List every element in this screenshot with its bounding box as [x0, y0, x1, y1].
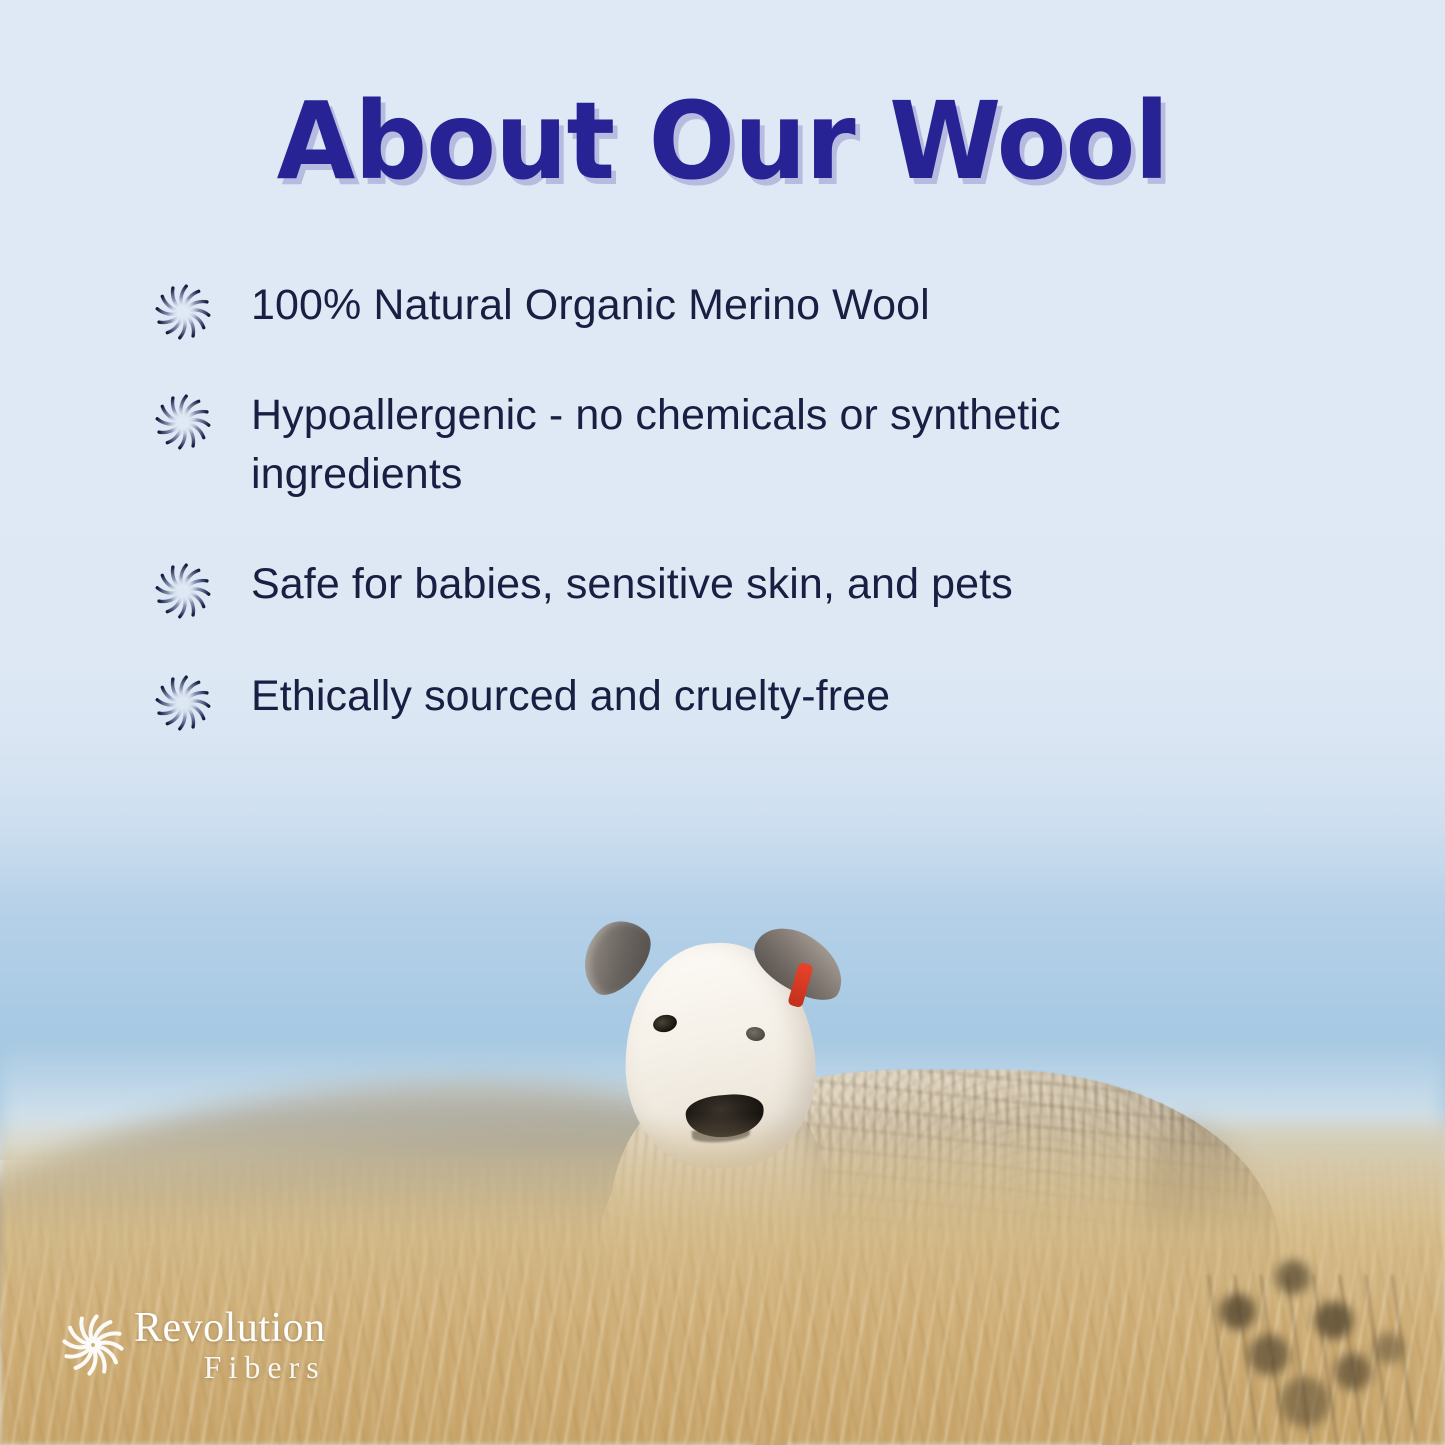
content-layer: About Our Wool	[0, 0, 1445, 1445]
list-item: Ethically sourced and cruelty-free	[155, 667, 1295, 731]
fiber-swirl-icon	[155, 394, 211, 450]
brand-name: Revolution	[134, 1307, 326, 1349]
list-item: Safe for babies, sensitive skin, and pet…	[155, 555, 1295, 619]
feature-label: Hypoallergenic - no chemicals or synthet…	[251, 386, 1241, 505]
fiber-swirl-icon	[62, 1314, 124, 1376]
brand-wordmark: Revolution Fibers	[134, 1307, 326, 1383]
brand-subname: Fibers	[134, 1351, 326, 1383]
feature-label: Ethically sourced and cruelty-free	[251, 667, 890, 726]
list-item: 100% Natural Organic Merino Wool	[155, 276, 1295, 340]
page-title: About Our Wool	[36, 86, 1409, 198]
feature-label: 100% Natural Organic Merino Wool	[251, 276, 930, 335]
fiber-swirl-icon	[155, 675, 211, 731]
feature-list: 100% Natural Organic Merino Wool	[155, 276, 1295, 777]
brand-logo: Revolution Fibers	[62, 1307, 326, 1383]
wool-info-graphic: About Our Wool	[0, 0, 1445, 1445]
fiber-swirl-icon	[155, 563, 211, 619]
list-item: Hypoallergenic - no chemicals or synthet…	[155, 386, 1295, 505]
feature-label: Safe for babies, sensitive skin, and pet…	[251, 555, 1013, 614]
fiber-swirl-icon	[155, 284, 211, 340]
